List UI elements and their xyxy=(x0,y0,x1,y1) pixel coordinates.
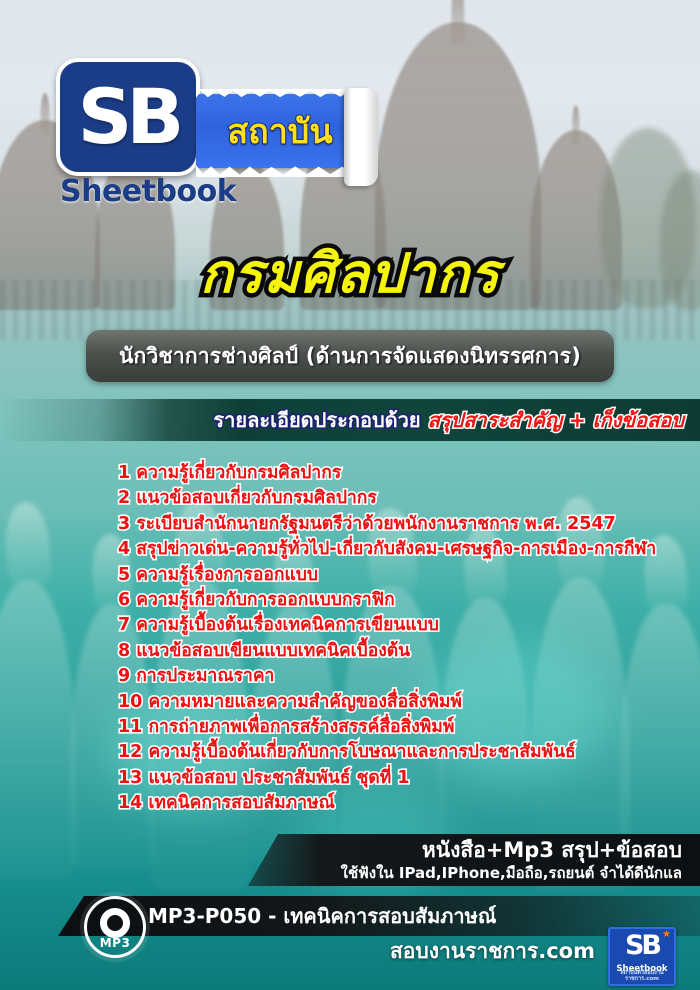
position-subtitle-text: นักวิชาการช่างศิลป์ (ด้านการจัดแสดงนิทรร… xyxy=(119,340,581,373)
footer-sheetbook-logo: ★ SB Sheetbook สถาบันติวสอบงานราชการ.com xyxy=(608,927,676,986)
list-item: 4 สรุปข่าวเด่น-ความรู้ทั่วไป-เกี่ยวกับสั… xyxy=(118,537,678,562)
sb-monogram-icon: SB xyxy=(56,58,200,176)
list-item: 11 การถ่ายภาพเพื่อการสร้างสรรค์สื่อสิ่งพ… xyxy=(118,715,678,740)
sheetbook-wordmark: Sheetbook xyxy=(60,174,236,209)
list-item: 9 การประมาณราคา xyxy=(118,664,678,689)
list-item: 7 ความรู้เบื้องต้นเรื่องเทคนิคการเขียนแบ… xyxy=(118,613,678,638)
list-item: 1 ความรู้เกี่ยวกับกรมศิลปากร xyxy=(118,461,678,486)
detail-bar-highlight: สรุปสาระสำคัญ + เก็งข้อสอบ xyxy=(428,408,684,432)
list-item: 12 ความรู้เบื้องต้นเกี่ยวกับการโบษณาและก… xyxy=(118,740,678,765)
detail-bar-text: รายละเอียดประกอบด้วย สรุปสาระสำคัญ + เก็… xyxy=(213,404,684,436)
torn-banner-label: สถาบัน xyxy=(196,94,364,168)
list-item: 6 ความรู้เกี่ยวกับการออกแบบกราฟิก xyxy=(118,588,678,613)
mp3-disc-hole xyxy=(100,908,130,938)
page-title: กรมศิลปากร xyxy=(0,246,700,303)
product-code-banner: MP3-P050 - เทคนิคการสอบสัมภาษณ์ xyxy=(58,896,700,936)
detail-highlight-bar: รายละเอียดประกอบด้วย สรุปสาระสำคัญ + เก็… xyxy=(0,399,700,441)
list-item: 13 แนวข้อสอบ ประชาสัมพันธ์ ชุดที่ 1 xyxy=(118,766,678,791)
list-item: 2 แนวข้อสอบเกี่ยวกับกรมศิลปากร xyxy=(118,486,678,511)
list-item: 14 เทคนิคการสอบสัมภาษณ์ xyxy=(118,791,678,816)
table-of-contents: 1 ความรู้เกี่ยวกับกรมศิลปากร 2 แนวข้อสอบ… xyxy=(118,461,678,817)
torn-paper-banner: สถาบัน xyxy=(196,94,364,168)
product-code-text: MP3-P050 - เทคนิคการสอบสัมภาษณ์ xyxy=(148,900,496,932)
sb-monogram-text: SB xyxy=(78,79,179,155)
promo-headline: หนังสือ+Mp3 สรุป+ข้อสอบ xyxy=(422,838,682,862)
list-item: 10 ความหมายและความสำคัญของสื่อสิ่งพิมพ์ xyxy=(118,690,678,715)
promo-banner: หนังสือ+Mp3 สรุป+ข้อสอบ ใช้ฟังใน IPad,IP… xyxy=(248,834,700,886)
promo-subline: ใช้ฟังใน IPad,IPhone,มือถือ,รถยนต์ จำได้… xyxy=(341,864,682,882)
list-item: 5 ความรู้เรื่องการออกแบบ xyxy=(118,563,678,588)
list-item: 8 แนวข้อสอบเขียนแบบเทคนิคเบื้องต้น xyxy=(118,639,678,664)
footer-logo-monogram: SB xyxy=(610,932,674,959)
list-item: 3 ระเบียบสำนักนายกรัฐมนตรีว่าด้วยพนักงาน… xyxy=(118,512,678,537)
detail-bar-prefix: รายละเอียดประกอบด้วย xyxy=(213,408,420,432)
website-url: สอบงานราชการ.com xyxy=(390,935,595,968)
sheetbook-logo: SB สถาบัน Sheetbook xyxy=(44,52,374,212)
footer-logo-subtext: สถาบันติวสอบงานราชการ.com xyxy=(610,971,674,982)
mp3-disc-icon: MP3 xyxy=(84,896,146,958)
mp3-disc-label: MP3 xyxy=(87,936,143,950)
book-cover-poster: SB สถาบัน Sheetbook กรมศิลปากร นักวิชากา… xyxy=(0,0,700,990)
position-subtitle-bar: นักวิชาการช่างศิลป์ (ด้านการจัดแสดงนิทรร… xyxy=(86,330,614,382)
